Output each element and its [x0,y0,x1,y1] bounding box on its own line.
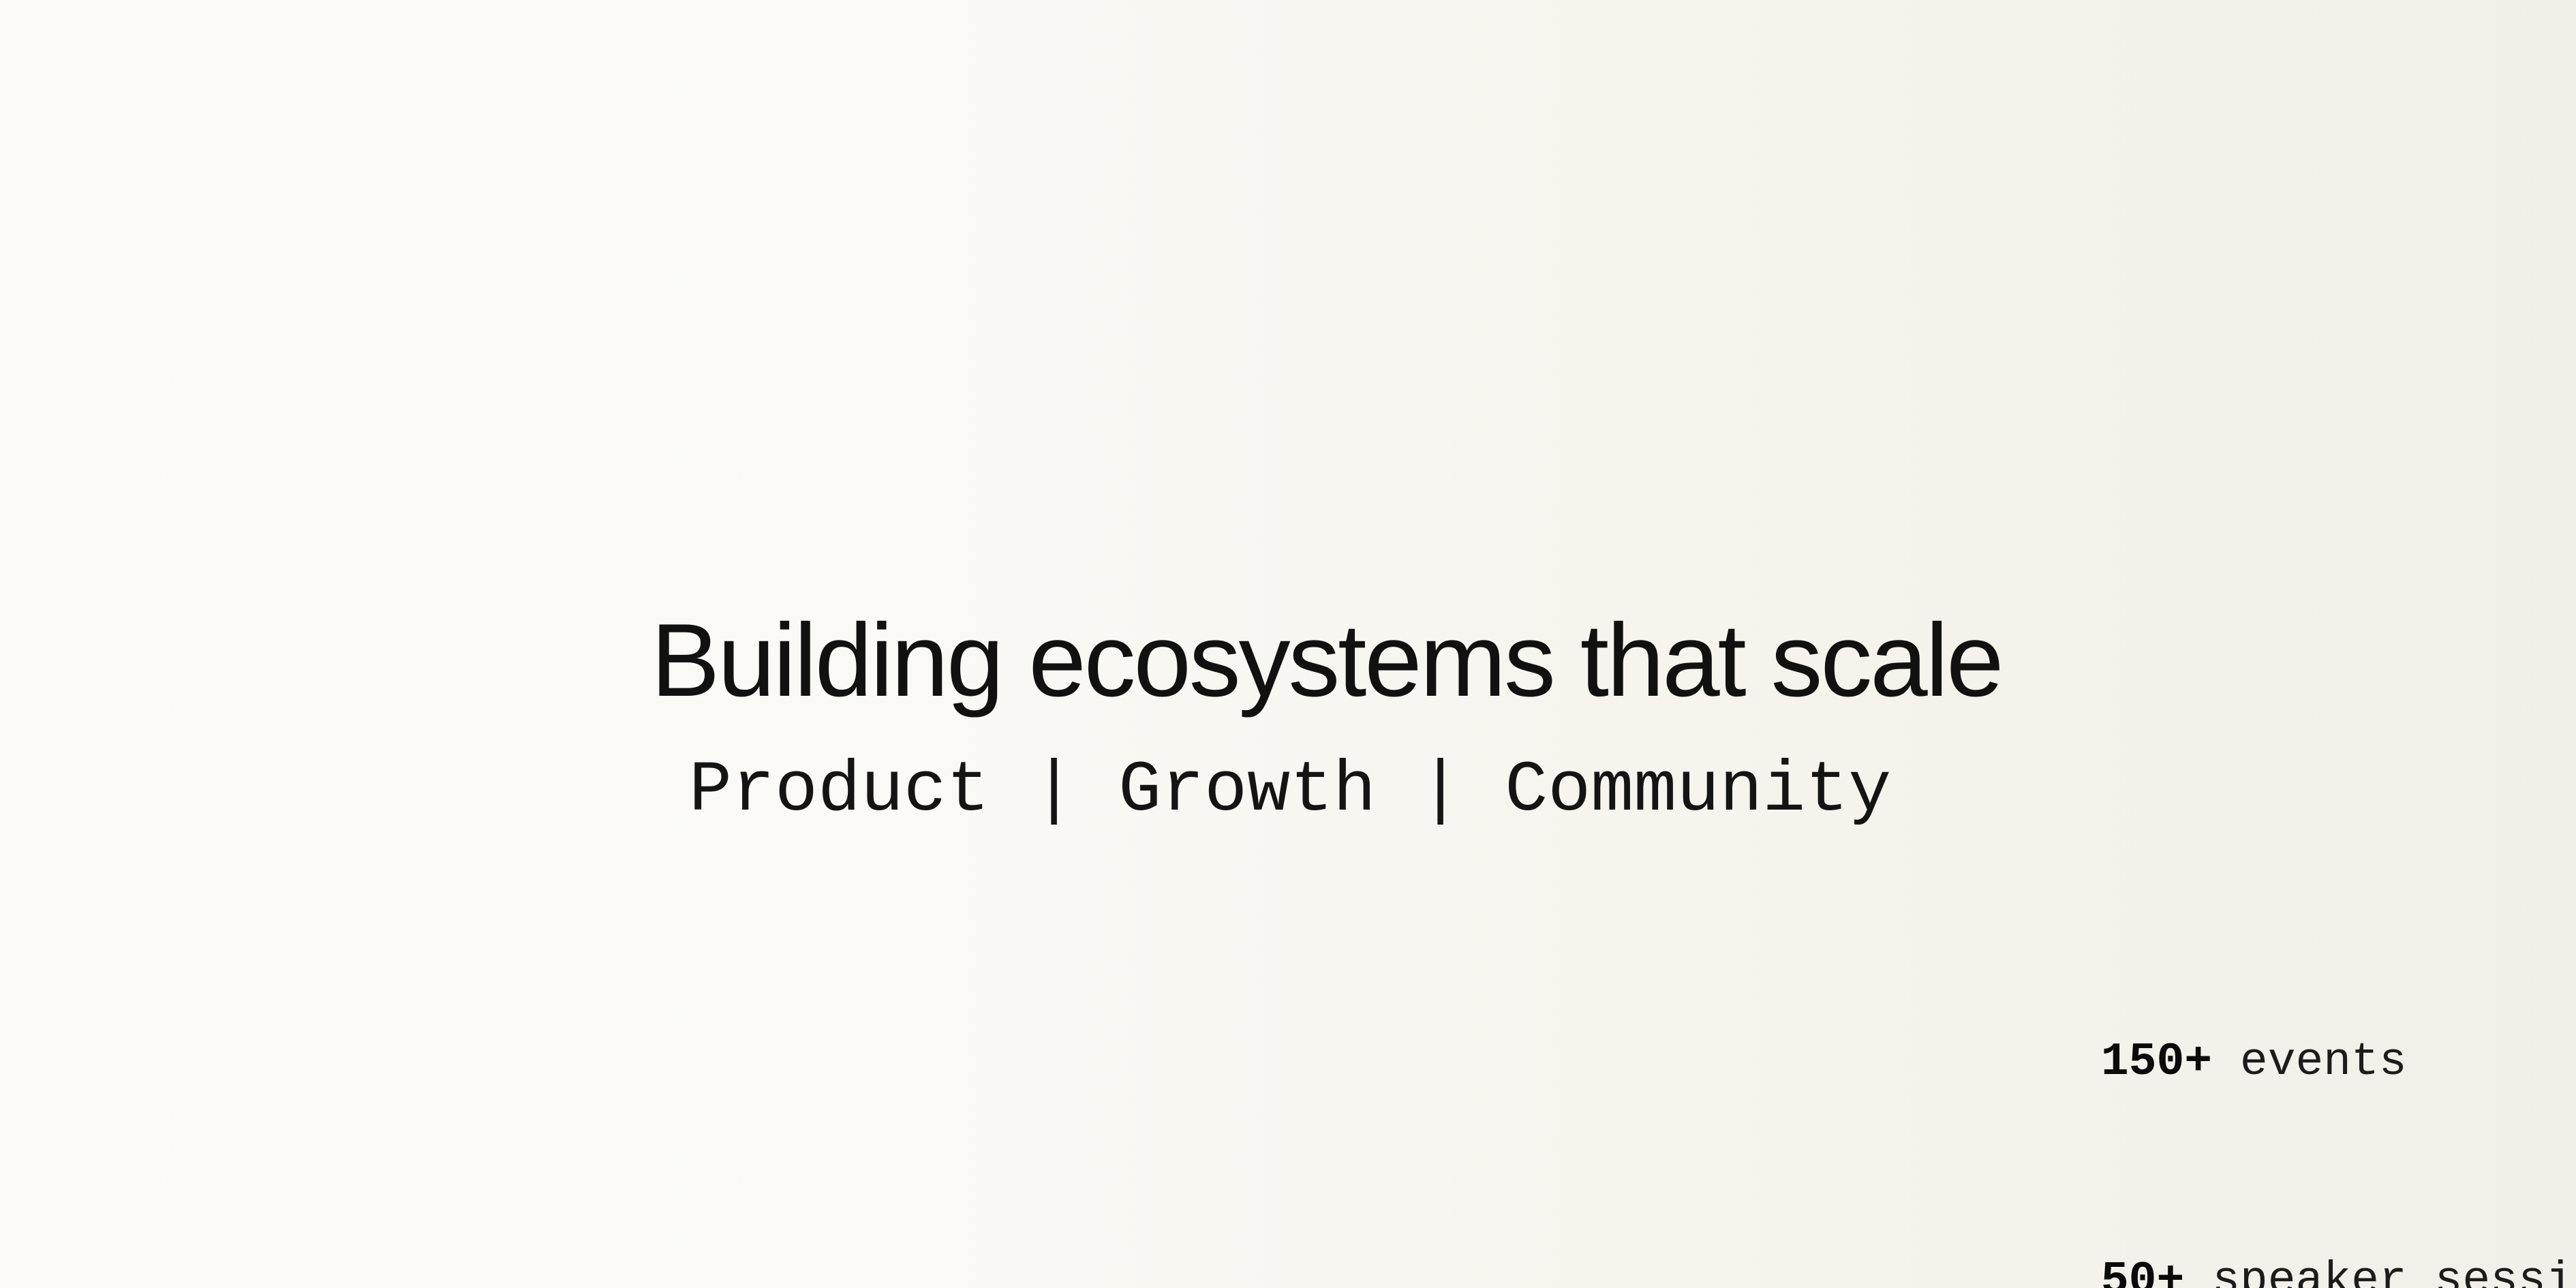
stat-item-events: 150+ events [1934,953,2407,1171]
stat-item-speaker-sessions: 50+ speaker sessions [1934,1171,2576,1288]
stat-label-speaker-sessions: speaker sessions [2212,1255,2576,1288]
stat-value-events: 150+ [2101,1036,2212,1088]
presentation-slide: Building ecosystems that scale Product |… [0,0,2576,1288]
stat-label-events: events [2240,1036,2407,1088]
stat-separator [2212,1036,2240,1088]
stat-separator [2184,1255,2212,1288]
subtitle-pillars: Product | Growth | Community [689,755,1891,827]
page-title: Building ecosystems that scale [651,609,2002,712]
stats-block: 150+ events 50+ speaker sessions 25k+ us… [1934,953,2576,1288]
stat-value-speaker-sessions: 50+ [2101,1255,2184,1288]
